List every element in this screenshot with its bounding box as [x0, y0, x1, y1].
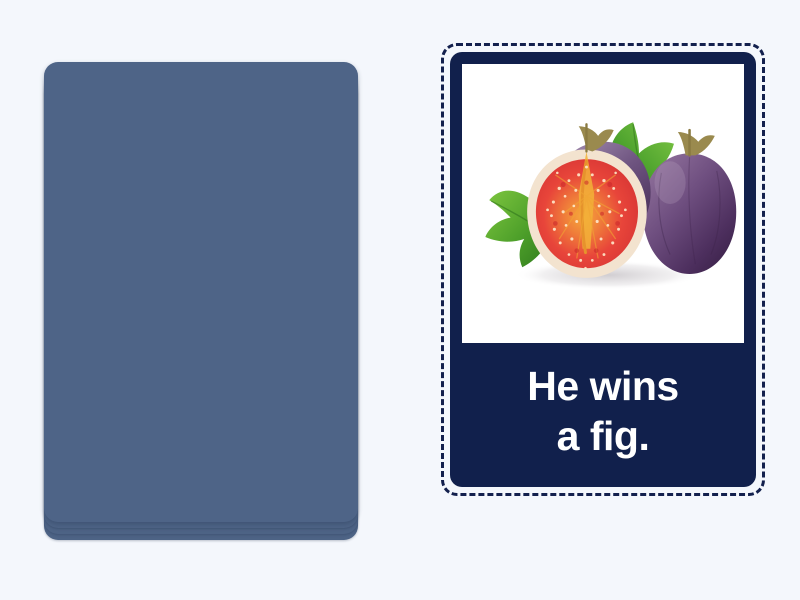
flashcard-dashed-frame[interactable]: He wins a fig.: [441, 43, 765, 496]
flashcard-image-area: [462, 64, 744, 343]
fig-fruit-image: [462, 64, 744, 343]
flashcard-activity-stage: He wins a fig.: [0, 0, 800, 600]
revealed-flashcard[interactable]: He wins a fig.: [450, 52, 756, 487]
deck-top-card[interactable]: [44, 62, 358, 522]
caption-line-2: a fig.: [557, 411, 650, 461]
flashcard-caption: He wins a fig.: [462, 343, 744, 487]
caption-line-1: He wins: [527, 361, 678, 411]
face-down-card-deck[interactable]: [44, 62, 358, 528]
